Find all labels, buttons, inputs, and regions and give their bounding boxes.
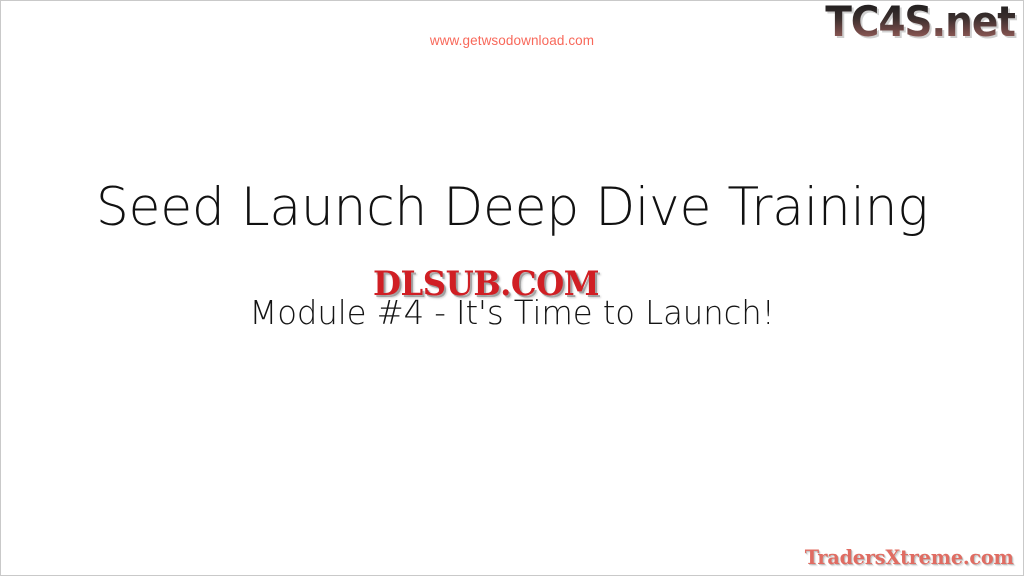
tradersxtreme-watermark: TradersXtreme.com	[805, 545, 1014, 569]
dlsub-watermark: DLSUB.COM	[373, 265, 599, 303]
presentation-slide: www.getwsodownload.com TC4S.net TC4S.net…	[0, 0, 1024, 576]
slide-title: Seed Launch Deep Dive Training	[11, 177, 1013, 238]
tc4s-logo: TC4S.net	[825, 0, 1015, 45]
